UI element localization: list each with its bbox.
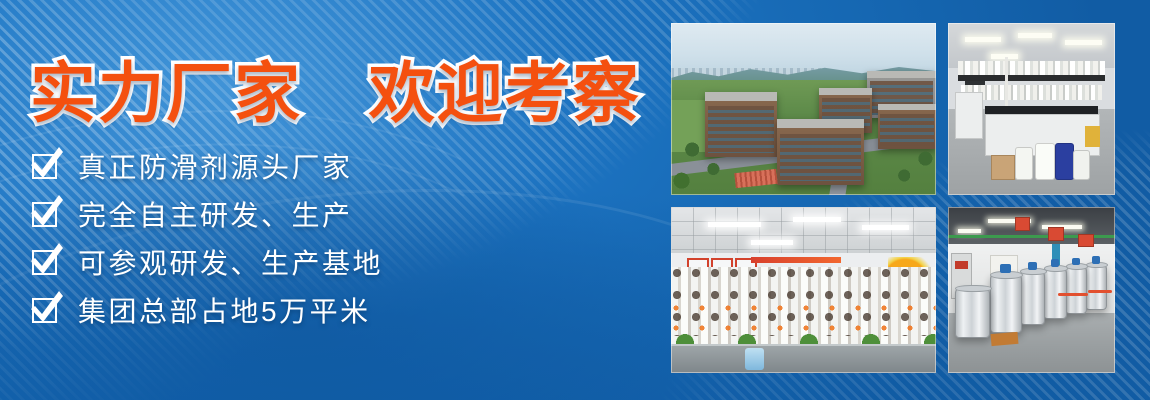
production-tanks-photo [948, 207, 1115, 373]
feature-list: 真正防滑剂源头厂家 完全自主研发、生产 可参观研发、生产基地 [30, 146, 383, 329]
laboratory-photo [948, 23, 1115, 195]
checkbox-checked-icon [30, 151, 62, 181]
feature-label: 真正防滑剂源头厂家 [78, 146, 353, 186]
photo-grid [671, 23, 1115, 373]
checkbox-checked-icon [30, 199, 62, 229]
feature-label: 集团总部占地5万平米 [78, 290, 371, 330]
list-item: 完全自主研发、生产 [30, 194, 383, 233]
aerial-campus-photo [671, 23, 936, 195]
headline-part-2: 欢迎考察 [369, 56, 641, 130]
page-title: 实力厂家 欢迎考察 [30, 40, 641, 136]
checkbox-checked-icon [30, 295, 62, 325]
feature-label: 可参观研发、生产基地 [78, 242, 383, 282]
list-item: 可参观研发、生产基地 [30, 242, 383, 281]
office-staff-photo [671, 207, 936, 373]
headline-part-1: 实力厂家 [30, 56, 302, 130]
checkbox-checked-icon [30, 247, 62, 277]
list-item: 集团总部占地5万平米 [30, 290, 383, 329]
promo-banner: 实力厂家 欢迎考察 真正防滑剂源头厂家 完全自主研发、生产 [0, 0, 1150, 400]
feature-label: 完全自主研发、生产 [78, 194, 353, 234]
list-item: 真正防滑剂源头厂家 [30, 146, 383, 185]
